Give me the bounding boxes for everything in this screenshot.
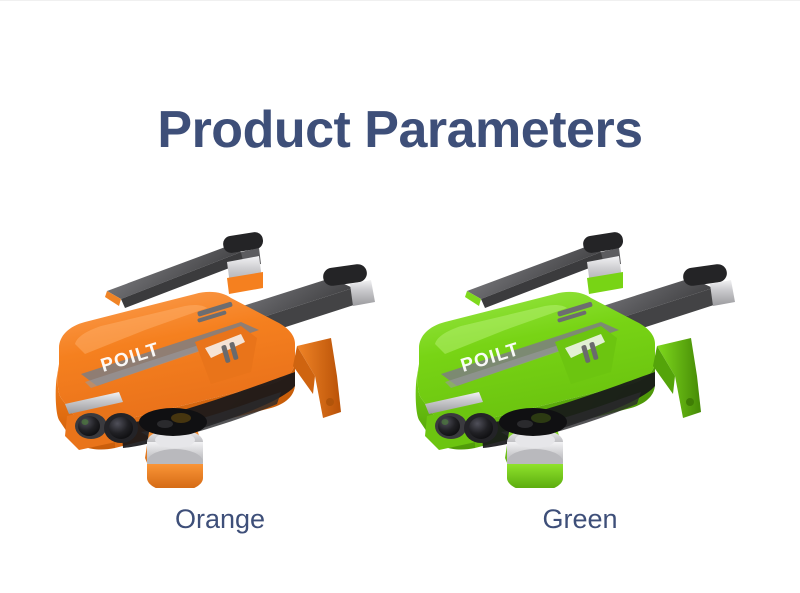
landing-leg-rear-right <box>293 338 341 418</box>
landing-leg-rear-right <box>653 338 701 418</box>
product-label-orange: Orange <box>175 506 265 533</box>
product-gallery: POILT <box>0 226 800 556</box>
page-title: Product Parameters <box>0 104 800 156</box>
drone-image-green: POILT <box>405 226 755 488</box>
product-label-green: Green <box>542 506 617 533</box>
propeller-hub-center <box>139 408 207 436</box>
product-parameters-page: Product Parameters <box>0 0 800 593</box>
motor-mount-rear <box>227 256 263 294</box>
product-card-orange[interactable]: POILT <box>40 226 400 556</box>
propeller-hub-center <box>499 408 567 436</box>
drone-image-orange: POILT <box>45 226 395 488</box>
motor-mount-rear <box>587 256 623 294</box>
product-card-green[interactable]: POILT <box>400 226 760 556</box>
